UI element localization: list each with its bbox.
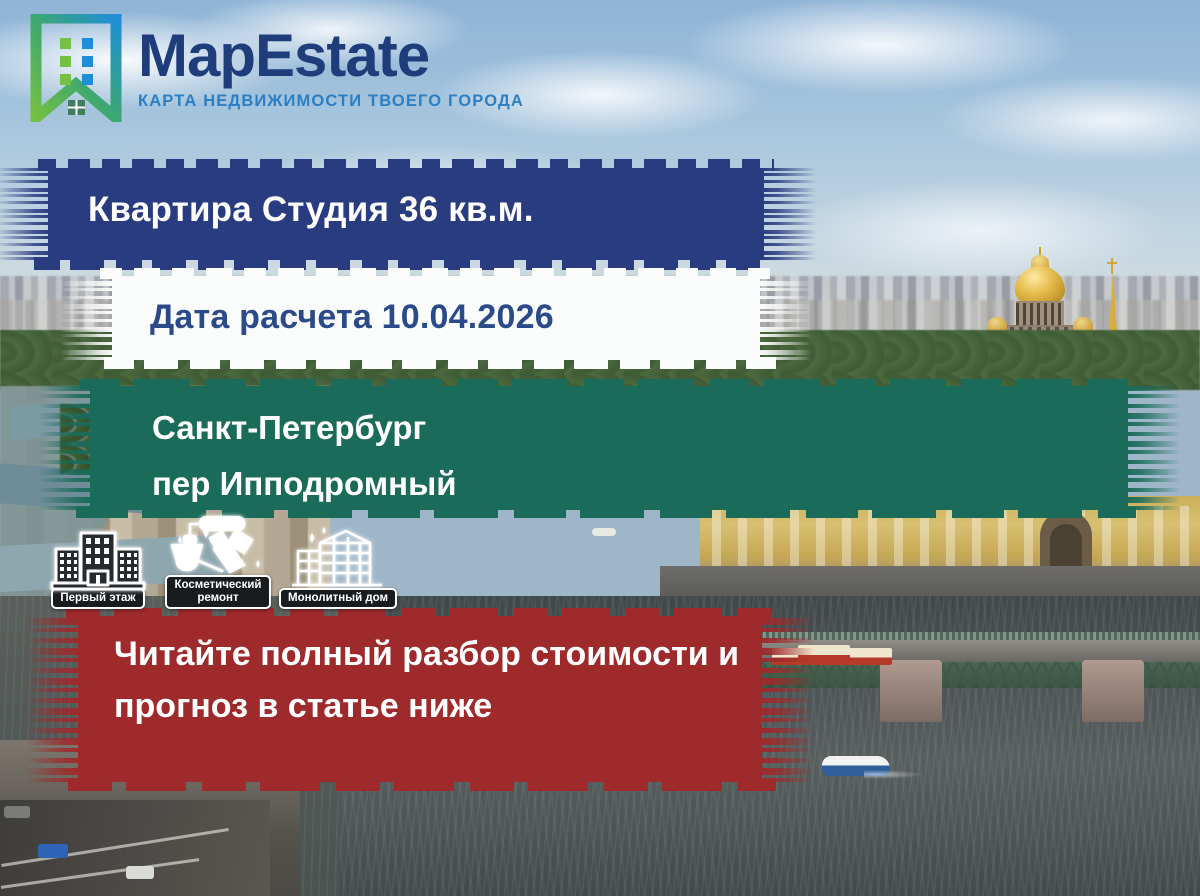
car-icon	[4, 806, 30, 818]
monolithic-tower-icon	[290, 525, 386, 591]
bridge-pier	[880, 660, 942, 722]
bridge-pier	[1082, 660, 1144, 722]
bookmark-building-icon	[30, 14, 122, 122]
car-icon	[38, 844, 68, 858]
calculation-date: Дата расчета 10.04.2026	[150, 298, 554, 337]
badge-first-floor[interactable]: Первый этаж	[44, 529, 152, 609]
location-street: пер Ипподромный	[152, 456, 457, 512]
badge-cosmetic-renovation[interactable]: Косметический ремонт	[164, 512, 272, 609]
property-title: Квартира Студия 36 кв.м.	[88, 190, 534, 230]
badge-label: Первый этаж	[51, 588, 144, 609]
apartment-building-icon	[50, 529, 146, 591]
logo-tagline: КАРТА НЕДВИЖИМОСТИ ТВОЕГО ГОРОДА	[138, 93, 524, 110]
brush-edge-right	[760, 616, 814, 782]
brush-edge-right	[762, 168, 816, 260]
brush-edge-right	[1126, 386, 1180, 510]
badge-label: Косметический ремонт	[165, 575, 271, 609]
promo-card: MapEstate КАРТА НЕДВИЖИМОСТИ ТВОЕГО ГОРО…	[0, 0, 1200, 896]
paint-roller-brush-bucket-icon	[166, 512, 270, 578]
brush-edge-left	[38, 386, 92, 510]
feature-badges: Первый этаж	[44, 512, 392, 609]
brush-edge-left	[0, 168, 50, 260]
brush-edge-left	[60, 276, 114, 360]
logo-wordmark: MapEstate	[138, 26, 524, 86]
cta-text: Читайте полный разбор стоимости и прогно…	[114, 628, 744, 732]
car-icon	[126, 866, 154, 879]
boat-wake	[864, 770, 924, 779]
badge-monolithic-house[interactable]: Монолитный дом	[284, 525, 392, 609]
brand-logo[interactable]: MapEstate КАРТА НЕДВИЖИМОСТИ ТВОЕГО ГОРО…	[30, 14, 524, 122]
small-boat-icon	[592, 528, 616, 536]
location-city: Санкт-Петербург	[152, 400, 457, 456]
location-text: Санкт-Петербург пер Ипподромный	[152, 400, 457, 512]
brush-edge-right	[758, 276, 812, 360]
brush-edge-left	[26, 616, 80, 782]
badge-label: Монолитный дом	[279, 588, 397, 609]
